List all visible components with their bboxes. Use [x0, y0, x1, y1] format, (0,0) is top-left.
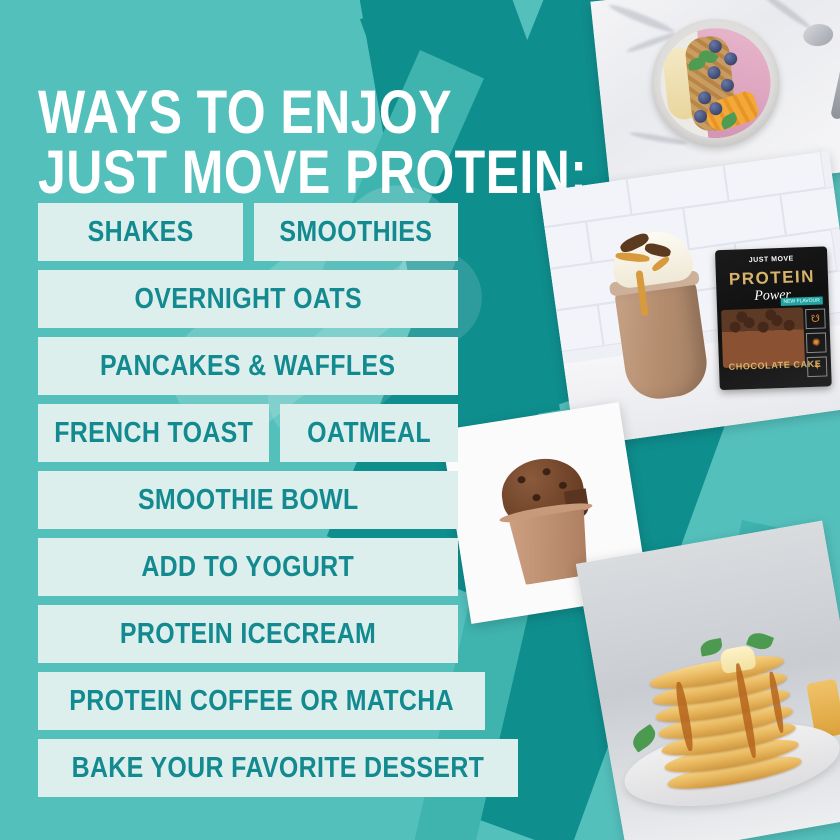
page-title: WAYS TO ENJOY JUST MOVE PROTEIN: [38, 83, 497, 203]
list-row: ADD TO YOGURT [38, 538, 458, 596]
list-item[interactable]: ADD TO YOGURT [38, 538, 458, 596]
list-item[interactable]: OATMEAL [280, 404, 458, 462]
list-item-label: SHAKES [87, 216, 193, 249]
list-row: FRENCH TOASTOATMEAL [38, 404, 458, 462]
list-row: BAKE YOUR FAVORITE DESSERT [38, 739, 458, 797]
list-item-label: SMOOTHIES [279, 216, 432, 249]
list-item-label: BAKE YOUR FAVORITE DESSERT [72, 752, 485, 785]
list-item[interactable]: OVERNIGHT OATS [38, 270, 458, 328]
list-item-label: OVERNIGHT OATS [134, 283, 361, 316]
pancake-stack-shape [648, 648, 804, 796]
packet-flavor-tag: NEW FLAVOUR [780, 297, 823, 306]
list-item[interactable]: BAKE YOUR FAVORITE DESSERT [38, 739, 518, 797]
list-item-label: SMOOTHIE BOWL [138, 484, 359, 517]
list-item-label: PROTEIN ICECREAM [120, 618, 376, 651]
packet-brand: JUST MOVE [715, 254, 827, 265]
list-item-label: PANCAKES & WAFFLES [100, 350, 395, 383]
list-row: SHAKESSMOOTHIES [38, 203, 458, 261]
list-row: PROTEIN ICECREAM [38, 605, 458, 663]
page-title-line-2: JUST MOVE PROTEIN: [38, 143, 497, 203]
list-item-label: ADD TO YOGURT [142, 551, 355, 584]
list-item[interactable]: SHAKES [38, 203, 243, 261]
ways-list: SHAKESSMOOTHIESOVERNIGHT OATSPANCAKES & … [38, 203, 458, 797]
list-item-label: FRENCH TOAST [54, 417, 253, 450]
list-item-label: PROTEIN COFFEE OR MATCHA [69, 685, 454, 718]
list-row: PANCAKES & WAFFLES [38, 337, 458, 395]
protein-packet: JUST MOVE PROTEIN Power NEW FLAVOUR ☋ ✺ … [715, 246, 832, 390]
list-item[interactable]: PROTEIN COFFEE OR MATCHA [38, 672, 485, 730]
infographic-poster: WAYS TO ENJOY JUST MOVE PROTEIN: SHAKESS… [0, 0, 840, 840]
list-item[interactable]: FRENCH TOAST [38, 404, 269, 462]
list-row: PROTEIN COFFEE OR MATCHA [38, 672, 458, 730]
badge-vegan-icon: ✺ [806, 332, 827, 353]
page-title-line-1: WAYS TO ENJOY [38, 83, 497, 143]
list-item[interactable]: SMOOTHIES [254, 203, 459, 261]
list-item[interactable]: PANCAKES & WAFFLES [38, 337, 458, 395]
pancake-stack-photo [576, 521, 840, 840]
protein-shake-photo: JUST MOVE PROTEIN Power NEW FLAVOUR ☋ ✺ … [539, 151, 840, 447]
list-item[interactable]: SMOOTHIE BOWL [38, 471, 458, 529]
list-item[interactable]: PROTEIN ICECREAM [38, 605, 458, 663]
list-item-label: OATMEAL [307, 417, 431, 450]
list-row: SMOOTHIE BOWL [38, 471, 458, 529]
list-row: OVERNIGHT OATS [38, 270, 458, 328]
badge-protein-icon: ☋ [805, 308, 826, 329]
